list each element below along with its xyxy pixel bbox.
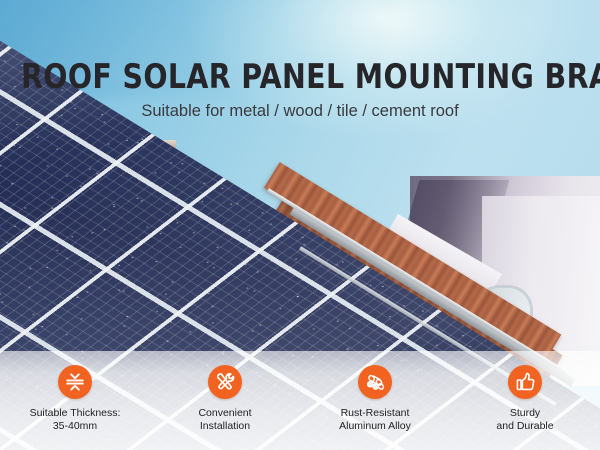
aluminum-tubes-icon bbox=[358, 365, 392, 399]
feature-item-installation: Convenient Installation bbox=[150, 365, 300, 450]
feature-item-thickness: Suitable Thickness: 35-40mm bbox=[0, 365, 150, 450]
thumbs-up-icon bbox=[508, 365, 542, 399]
feature-label: Rust-Resistant Aluminum Alloy bbox=[339, 407, 411, 432]
feature-label: Suitable Thickness: 35-40mm bbox=[30, 407, 121, 432]
page-subtitle: Suitable for metal / wood / tile / cemen… bbox=[0, 101, 600, 121]
banner-header: ROOF SOLAR PANEL MOUNTING BRACKET Suitab… bbox=[0, 58, 600, 121]
tools-wrench-screwdriver-icon bbox=[208, 365, 242, 399]
feature-item-material: Rust-Resistant Aluminum Alloy bbox=[300, 365, 450, 450]
thickness-gauge-icon bbox=[58, 365, 92, 399]
feature-label: Sturdy and Durable bbox=[496, 407, 553, 432]
product-banner: ROOF SOLAR PANEL MOUNTING BRACKET Suitab… bbox=[0, 0, 600, 450]
feature-item-durability: Sturdy and Durable bbox=[450, 365, 600, 450]
feature-label: Convenient Installation bbox=[198, 407, 251, 432]
page-title: ROOF SOLAR PANEL MOUNTING BRACKET bbox=[21, 58, 579, 96]
feature-bar: Suitable Thickness: 35-40mm Convenient I… bbox=[0, 351, 600, 450]
